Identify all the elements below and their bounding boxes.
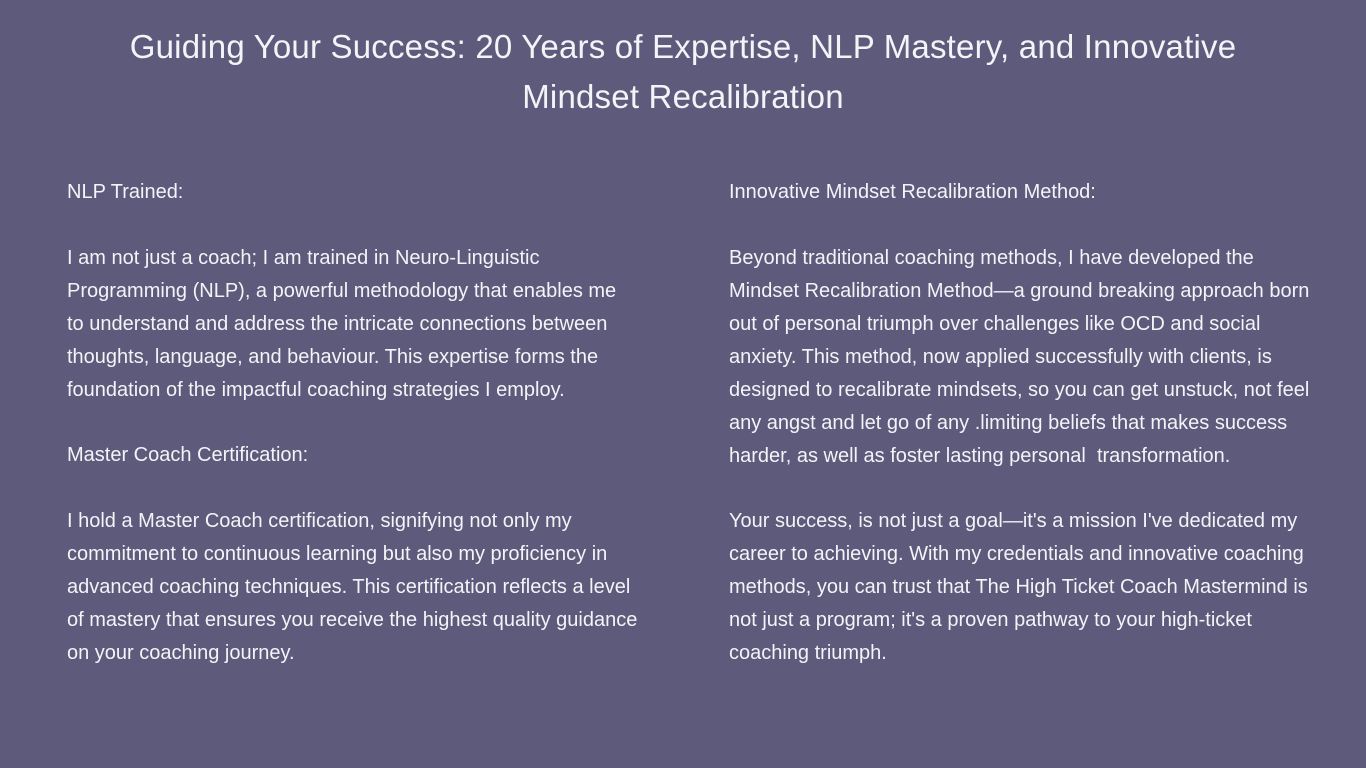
- slide-body-columns: NLP Trained: I am not just a coach; I am…: [0, 176, 1366, 670]
- left-section-master-coach: Master Coach Certification: I hold a Mas…: [67, 439, 638, 670]
- right-section-mindset-method-heading: Innovative Mindset Recalibration Method:: [729, 176, 1311, 209]
- left-section-nlp-trained: NLP Trained: I am not just a coach; I am…: [67, 176, 638, 407]
- left-section-master-coach-body: I hold a Master Coach certification, sig…: [67, 505, 638, 670]
- right-section-mindset-method: Innovative Mindset Recalibration Method:…: [729, 176, 1311, 473]
- left-section-master-coach-heading: Master Coach Certification:: [67, 439, 638, 472]
- left-section-nlp-trained-body: I am not just a coach; I am trained in N…: [67, 242, 638, 407]
- presentation-slide: Guiding Your Success: 20 Years of Expert…: [0, 0, 1366, 768]
- right-section-mindset-method-body: Beyond traditional coaching methods, I h…: [729, 242, 1311, 473]
- right-section-closing: Your success, is not just a goal—it's a …: [729, 505, 1311, 670]
- right-section-closing-body: Your success, is not just a goal—it's a …: [729, 505, 1311, 670]
- right-column: Innovative Mindset Recalibration Method:…: [698, 176, 1366, 670]
- slide-title: Guiding Your Success: 20 Years of Expert…: [90, 22, 1276, 122]
- left-section-nlp-trained-heading: NLP Trained:: [67, 176, 638, 209]
- left-column: NLP Trained: I am not just a coach; I am…: [0, 176, 698, 670]
